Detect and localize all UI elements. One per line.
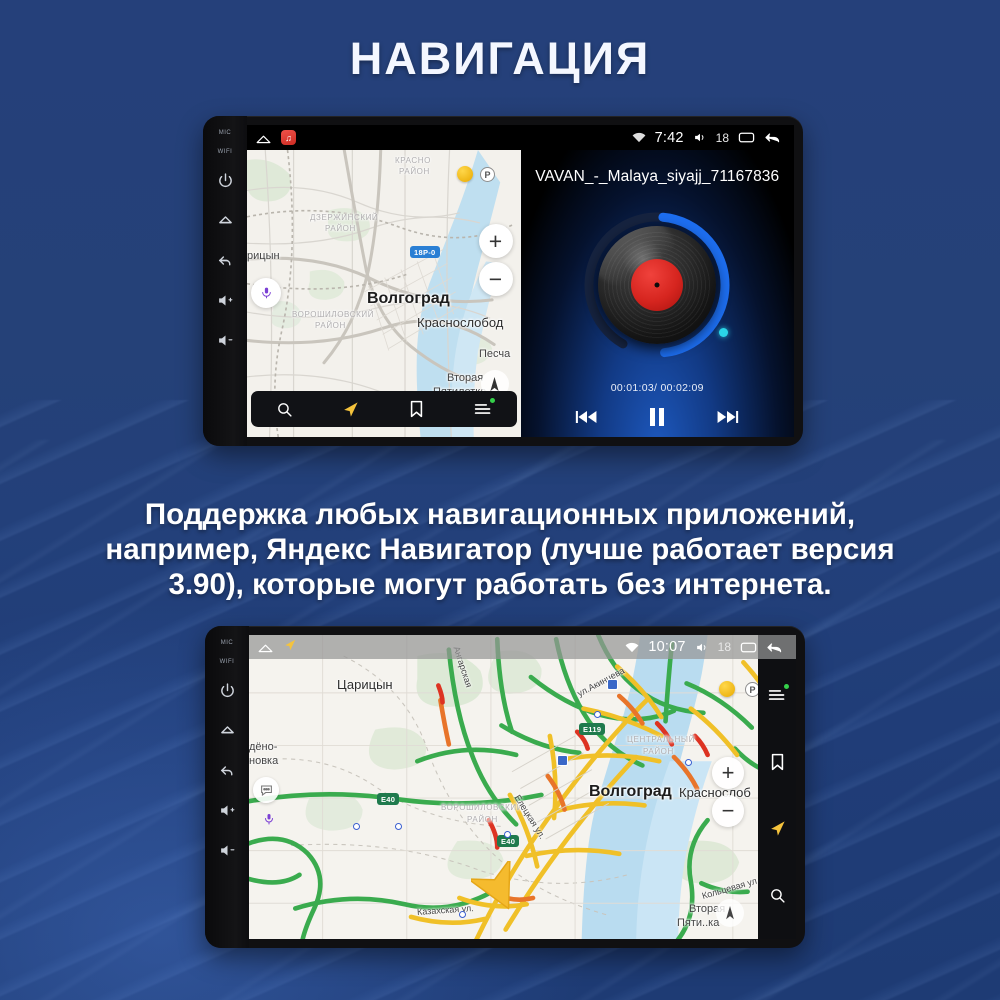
volume-level: 18 [716, 131, 729, 145]
menu-badge-dot [784, 684, 789, 689]
search-icon[interactable] [763, 882, 791, 910]
map-label-city: Волгоград [367, 290, 450, 308]
device-left-bezel: MIC WIFI [203, 116, 247, 446]
pause-icon[interactable] [639, 402, 675, 432]
bookmark-icon[interactable] [403, 395, 431, 423]
volume-icon [693, 131, 707, 144]
back-icon[interactable] [764, 131, 782, 144]
skip-next-icon[interactable] [709, 402, 745, 432]
transit-stop-icon [353, 823, 360, 830]
map-label: РАЙОН [399, 167, 430, 176]
vinyl-player[interactable] [577, 205, 737, 365]
status-time: 10:07 [648, 639, 685, 655]
recents-icon[interactable] [740, 641, 757, 654]
search-icon[interactable] [270, 395, 298, 423]
zoom-in-button[interactable]: + [712, 757, 744, 789]
map-label: РАЙОН [467, 815, 498, 824]
map-bottom-toolbar [251, 391, 517, 427]
navigation-arrow-icon[interactable] [337, 395, 365, 423]
map-label: Царицын [337, 677, 393, 692]
page-title: НАВИГАЦИЯ [0, 33, 1000, 85]
map-label: Песча [479, 348, 510, 360]
transit-stop-icon [504, 831, 511, 838]
transit-stop-icon [459, 911, 466, 918]
home-icon[interactable] [213, 208, 237, 232]
menu-badge-dot [490, 398, 495, 403]
traffic-map-pane[interactable]: Царицын дёно- новка ВОРОШИЛОВСКИЙ РАЙОН … [249, 635, 796, 939]
music-app-icon[interactable]: ♫ [281, 130, 296, 145]
volume-up-icon[interactable] [215, 798, 239, 822]
metro-icon [607, 679, 618, 690]
navigator-app-icon[interactable] [283, 638, 297, 657]
home-icon[interactable] [215, 718, 239, 742]
map-label: Краснослобод [417, 315, 503, 330]
zoom-in-button[interactable]: + [479, 224, 513, 258]
volume-up-icon[interactable] [213, 288, 237, 312]
screen-top: ♫ 7:42 18 [247, 125, 794, 437]
transit-stop-icon [594, 711, 601, 718]
volume-level: 18 [718, 640, 731, 654]
android-status-bar: ♫ 7:42 18 [247, 125, 794, 150]
car-head-unit-top: MIC WIFI ♫ [203, 116, 803, 446]
map-label: новка [249, 755, 278, 767]
map-label: ВОРОШИЛОВСКИЙ [292, 310, 374, 319]
skip-previous-icon[interactable] [569, 402, 605, 432]
vinyl-record [598, 226, 716, 344]
map-label: ВОРОШИЛОВСКИЙ [441, 803, 523, 812]
microphone-icon[interactable] [263, 811, 275, 832]
bookmark-icon[interactable] [763, 748, 791, 776]
vinyl-hole [655, 283, 660, 288]
playback-time: 00:01:03/ 00:02:09 [521, 382, 795, 394]
mic-led-label: MIC [221, 640, 234, 646]
paragraph-line-1: Поддержка любых навигационных приложений… [50, 497, 950, 532]
menu-icon[interactable] [763, 681, 791, 709]
power-icon[interactable] [215, 678, 239, 702]
wifi-led-label: WIFI [220, 659, 235, 665]
compass-icon[interactable] [716, 899, 744, 927]
player-controls [521, 402, 795, 432]
volume-down-icon[interactable] [215, 838, 239, 862]
menu-icon[interactable] [469, 395, 497, 423]
back-icon[interactable] [766, 641, 784, 654]
screen-bottom: Царицын дёно- новка ВОРОШИЛОВСКИЙ РАЙОН … [249, 635, 796, 939]
car-head-unit-bottom: MIC WIFI [205, 626, 805, 948]
voice-search-button[interactable] [251, 278, 281, 308]
paragraph-line-2: например, Яндекс Навигатор (лучше работа… [50, 532, 950, 567]
map-pane[interactable]: КРАСНО РАЙОН ДЗЕРЖИНСКИЙ РАЙОН рицын Вол… [247, 150, 521, 437]
music-player-pane[interactable]: VAVAN_-_Malaya_siyajj_71167836 00:01:03/… [521, 150, 795, 437]
map-label: РАЙОН [315, 321, 346, 330]
track-title: VAVAN_-_Malaya_siyajj_71167836 [521, 168, 795, 186]
road-badge-e119: E119 [579, 723, 605, 735]
status-time: 7:42 [655, 130, 684, 146]
chat-bubble-icon[interactable] [253, 777, 279, 803]
progress-knob[interactable] [719, 328, 728, 337]
map-right-sidebar [758, 635, 796, 939]
poi-marker-icon[interactable] [719, 681, 735, 697]
metro-icon [557, 755, 568, 766]
map-label: Краснослоб [679, 785, 751, 800]
zoom-out-button[interactable]: − [712, 795, 744, 827]
device-left-bezel: MIC WIFI [205, 626, 249, 948]
map-label: РАЙОН [325, 224, 356, 233]
transit-stop-icon [395, 823, 402, 830]
parking-icon[interactable]: P [480, 167, 495, 182]
map-label: Пяти..ка [677, 917, 719, 929]
paragraph-line-3: 3.90), которые могут работать без интерн… [50, 567, 950, 602]
road-badge: 18Р-0 [410, 246, 440, 258]
map-label: ДЗЕРЖИНСКИЙ [310, 213, 378, 222]
volume-icon [695, 641, 709, 654]
android-status-bar: 10:07 18 [249, 635, 796, 659]
mic-led-label: MIC [219, 130, 232, 136]
home-icon[interactable] [255, 132, 272, 144]
back-icon[interactable] [215, 758, 239, 782]
zoom-out-button[interactable]: − [479, 262, 513, 296]
map-label: рицын [247, 250, 280, 262]
wifi-icon [632, 132, 646, 143]
navigation-position-arrow-icon [471, 861, 525, 911]
home-icon[interactable] [257, 641, 274, 653]
map-label: Вторая [447, 372, 483, 384]
road-badge-e40: E40 [377, 793, 399, 805]
back-icon[interactable] [213, 248, 237, 272]
power-icon[interactable] [213, 168, 237, 192]
map-label: КРАСНО [395, 156, 431, 165]
wifi-icon [625, 642, 639, 653]
recents-icon[interactable] [738, 131, 755, 144]
map-label: ЦЕНТРАЛЬНЫЙ [627, 735, 695, 744]
navigation-arrow-icon[interactable] [763, 815, 791, 843]
description-paragraph: Поддержка любых навигационных приложений… [50, 497, 950, 602]
transit-stop-icon [685, 759, 692, 766]
volume-down-icon[interactable] [213, 328, 237, 352]
poi-marker-icon[interactable] [457, 166, 473, 182]
map-label: дёно- [249, 741, 277, 753]
wifi-led-label: WIFI [218, 149, 233, 155]
map-label: РАЙОН [643, 747, 674, 756]
map-label-city: Волгоград [589, 783, 672, 801]
